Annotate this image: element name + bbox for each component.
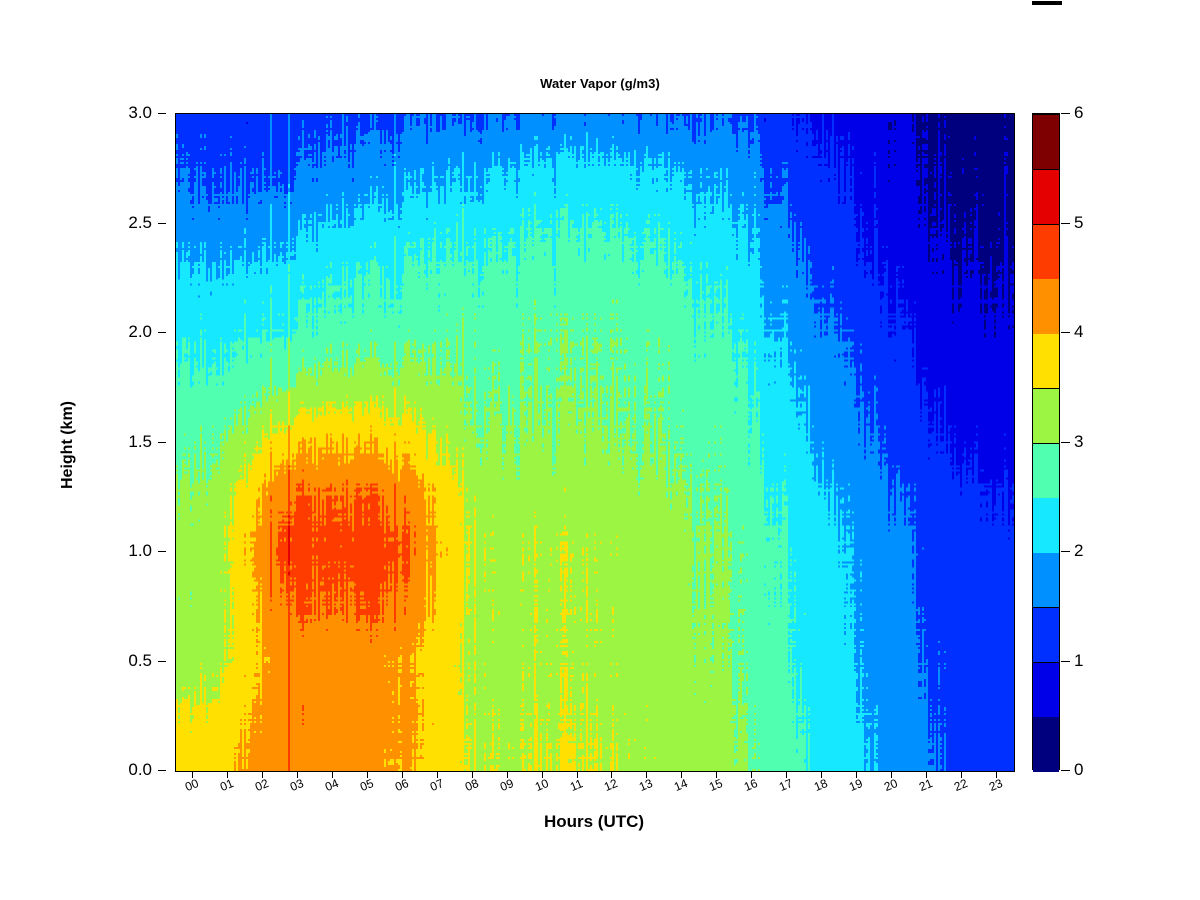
colorbar-tick-label: 0 (1074, 760, 1083, 780)
y-tick-label: 1.5 (128, 432, 152, 452)
x-tick-label: 18 (812, 776, 830, 794)
x-tick-label: 08 (463, 776, 481, 794)
x-tick-label: 06 (393, 776, 411, 794)
heatmap-plot-area[interactable] (175, 113, 1015, 772)
x-tick-label: 10 (533, 776, 551, 794)
colorbar-band (1033, 607, 1059, 662)
colorbar[interactable]: 0123456 (1032, 113, 1152, 771)
colorbar-tick-label: 3 (1074, 432, 1083, 452)
x-tick-label: 09 (498, 776, 516, 794)
colorbar-band (1033, 662, 1059, 717)
y-tick-label: 2.0 (128, 322, 152, 342)
y-tick-label: 2.5 (128, 213, 152, 233)
colorbar-tick (1061, 551, 1070, 552)
y-axis: Height (km) 0.00.51.01.52.02.53.0 (0, 100, 176, 790)
x-tick-label: 20 (882, 776, 900, 794)
colorbar-band (1033, 716, 1059, 771)
y-tick (158, 770, 166, 771)
colorbar-band (1033, 388, 1059, 443)
x-tick-label: 05 (358, 776, 376, 794)
y-tick (158, 551, 166, 552)
colorbar-band (1033, 333, 1059, 388)
colorbar-tick (1061, 332, 1070, 333)
x-tick-label: 04 (323, 776, 341, 794)
colorbar-tick-label: 4 (1074, 322, 1083, 342)
colorbar-band (1033, 443, 1059, 498)
y-tick-label: 0.5 (128, 651, 152, 671)
top-edge-artifact (1032, 1, 1062, 5)
y-tick-label: 1.0 (128, 541, 152, 561)
colorbar-tick (1061, 113, 1070, 114)
y-tick (158, 223, 166, 224)
x-tick-label: 23 (987, 776, 1005, 794)
colorbar-tick-label: 2 (1074, 541, 1083, 561)
figure-canvas: Water Vapor (g/m3) Height (km) 0.00.51.0… (0, 0, 1200, 900)
x-tick-label: 03 (288, 776, 306, 794)
colorbar-tick (1061, 223, 1070, 224)
x-tick-label: 02 (253, 776, 271, 794)
x-tick-label: 17 (777, 776, 795, 794)
colorbar-band (1033, 224, 1059, 279)
x-tick-label: 13 (637, 776, 655, 794)
y-tick (158, 661, 166, 662)
x-tick-label: 14 (672, 776, 690, 794)
colorbar-gradient (1032, 113, 1060, 770)
colorbar-band (1033, 497, 1059, 552)
colorbar-tick-label: 5 (1074, 213, 1083, 233)
y-tick-label: 3.0 (128, 103, 152, 123)
x-tick-label: 12 (602, 776, 620, 794)
water-vapor-field (176, 114, 1014, 771)
colorbar-tick (1061, 770, 1070, 771)
x-axis-title: Hours (UTC) (175, 812, 1013, 832)
y-tick (158, 113, 166, 114)
x-tick-label: 21 (917, 776, 935, 794)
colorbar-band (1033, 552, 1059, 607)
colorbar-tick (1061, 442, 1070, 443)
y-axis-title: Height (km) (59, 335, 77, 555)
x-tick-label: 16 (742, 776, 760, 794)
colorbar-band (1033, 169, 1059, 224)
x-tick-label: 07 (428, 776, 446, 794)
colorbar-tick (1061, 661, 1070, 662)
x-tick-label: 11 (568, 776, 585, 794)
y-tick (158, 332, 166, 333)
x-tick-label: 15 (707, 776, 725, 794)
colorbar-band-separator (1033, 114, 1059, 115)
x-tick-label: 19 (847, 776, 865, 794)
x-tick-label: 00 (183, 776, 201, 794)
x-tick-label: 01 (218, 776, 236, 794)
colorbar-tick-label: 1 (1074, 651, 1083, 671)
colorbar-band (1033, 278, 1059, 333)
colorbar-tick-label: 6 (1074, 103, 1083, 123)
page-title: Water Vapor (g/m3) (0, 76, 1200, 91)
x-tick-label: 22 (952, 776, 970, 794)
y-tick-label: 0.0 (128, 760, 152, 780)
y-tick (158, 442, 166, 443)
colorbar-band (1033, 114, 1059, 169)
